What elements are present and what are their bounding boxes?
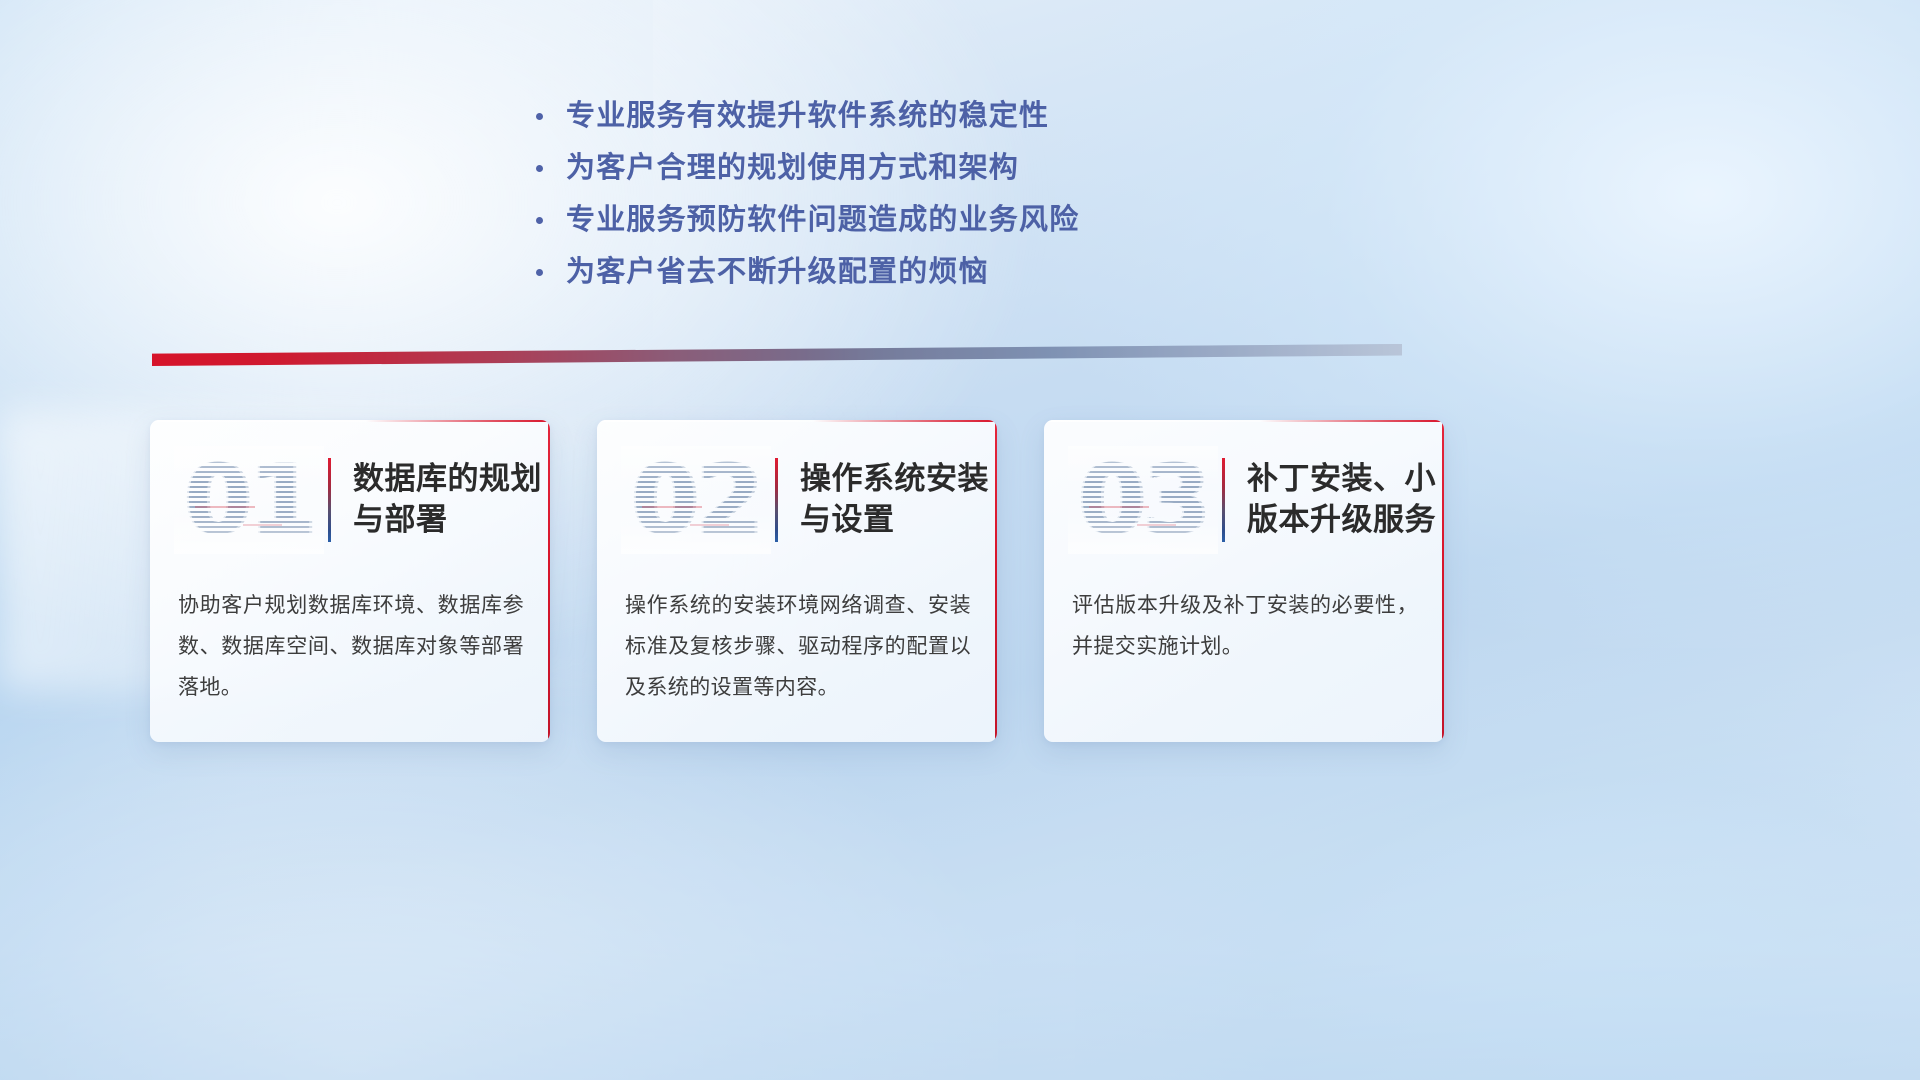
bullet-dot-icon: [536, 217, 566, 224]
bullet-item-1: 专业服务有效提升软件系统的稳定性: [536, 90, 1356, 142]
card-body-03: 评估版本升级及补丁安装的必要性，并提交实施计划。: [1072, 585, 1418, 667]
card-header: 03 03 03 补丁安装、小版本升级服务: [1044, 442, 1444, 558]
card-number-badge: 03 03 03: [1068, 446, 1218, 554]
card-accent-bar: [1222, 458, 1225, 542]
card-number-ghost-b: 01: [182, 452, 312, 548]
background-bottom-shade: [0, 756, 1920, 1080]
card-body-02: 操作系统的安装环境网络调查、安装标准及复核步骤、驱动程序的配置以及系统的设置等内…: [625, 585, 971, 708]
card-number-red-glitch-line-a: [195, 506, 255, 508]
card-number-red-glitch-line-b: [690, 524, 729, 526]
bullet-item-2: 为客户合理的规划使用方式和架构: [536, 142, 1356, 194]
card-accent-bar: [775, 458, 778, 542]
card-number-ghost-b: 03: [1076, 452, 1206, 548]
service-card-01[interactable]: 01 01 01 数据库的规划与部署 协助客户规划数据库环境、数据库参数、数据库…: [150, 420, 550, 742]
bullet-dot-icon: [536, 165, 566, 172]
card-number-layer-offset-b: 02: [619, 446, 769, 554]
service-card-02[interactable]: 02 02 02 操作系统安装与设置 操作系统的安装环境网络调查、安装标准及复核…: [597, 420, 997, 742]
bullet-item-2-label: 为客户合理的规划使用方式和架构: [566, 154, 1019, 183]
card-title-02: 操作系统安装与设置: [800, 459, 997, 541]
bullet-item-3-label: 专业服务预防软件问题造成的业务风险: [566, 206, 1079, 235]
card-number-badge: 01 01 01: [174, 446, 324, 554]
card-number-red-glitch-line-b: [243, 524, 282, 526]
bullet-item-4-label: 为客户省去不断升级配置的烦恼: [566, 258, 989, 287]
divider-highlight: [152, 344, 1402, 366]
card-red-top-edge: [813, 420, 997, 422]
bullet-dot-icon: [536, 269, 566, 276]
card-number-layer-offset-b: 01: [172, 446, 322, 554]
card-accent-bar: [328, 458, 331, 542]
card-header: 02 02 02 操作系统安装与设置: [597, 442, 997, 558]
bullet-item-4: 为客户省去不断升级配置的烦恼: [536, 246, 1356, 298]
card-red-top-edge: [1260, 420, 1444, 422]
card-number-ghost-b: 02: [629, 452, 759, 548]
card-number-badge: 02 02 02: [621, 446, 771, 554]
card-number-red-glitch-line-a: [1089, 506, 1149, 508]
card-header: 01 01 01 数据库的规划与部署: [150, 442, 550, 558]
card-title-01: 数据库的规划与部署: [353, 459, 550, 541]
slide-canvas: 专业服务有效提升软件系统的稳定性 为客户合理的规划使用方式和架构 专业服务预防软…: [0, 0, 1920, 1080]
card-number-red-glitch-line-a: [642, 506, 702, 508]
card-red-top-edge: [366, 420, 550, 422]
section-divider: [152, 344, 1402, 366]
card-body-01: 协助客户规划数据库环境、数据库参数、数据库空间、数据库对象等部署落地。: [178, 585, 524, 708]
card-number-red-glitch-line-b: [1137, 524, 1176, 526]
bullet-item-1-label: 专业服务有效提升软件系统的稳定性: [566, 102, 1049, 131]
card-title-03: 补丁安装、小版本升级服务: [1247, 459, 1444, 541]
service-card-list: 01 01 01 数据库的规划与部署 协助客户规划数据库环境、数据库参数、数据库…: [150, 420, 1600, 750]
bullet-item-3: 专业服务预防软件问题造成的业务风险: [536, 194, 1356, 246]
bullet-dot-icon: [536, 113, 566, 120]
card-number-layer-offset-b: 03: [1066, 446, 1216, 554]
service-card-03[interactable]: 03 03 03 补丁安装、小版本升级服务 评估版本升级及补丁安装的必要性，并提…: [1044, 420, 1444, 742]
benefits-bullet-list: 专业服务有效提升软件系统的稳定性 为客户合理的规划使用方式和架构 专业服务预防软…: [536, 90, 1356, 298]
